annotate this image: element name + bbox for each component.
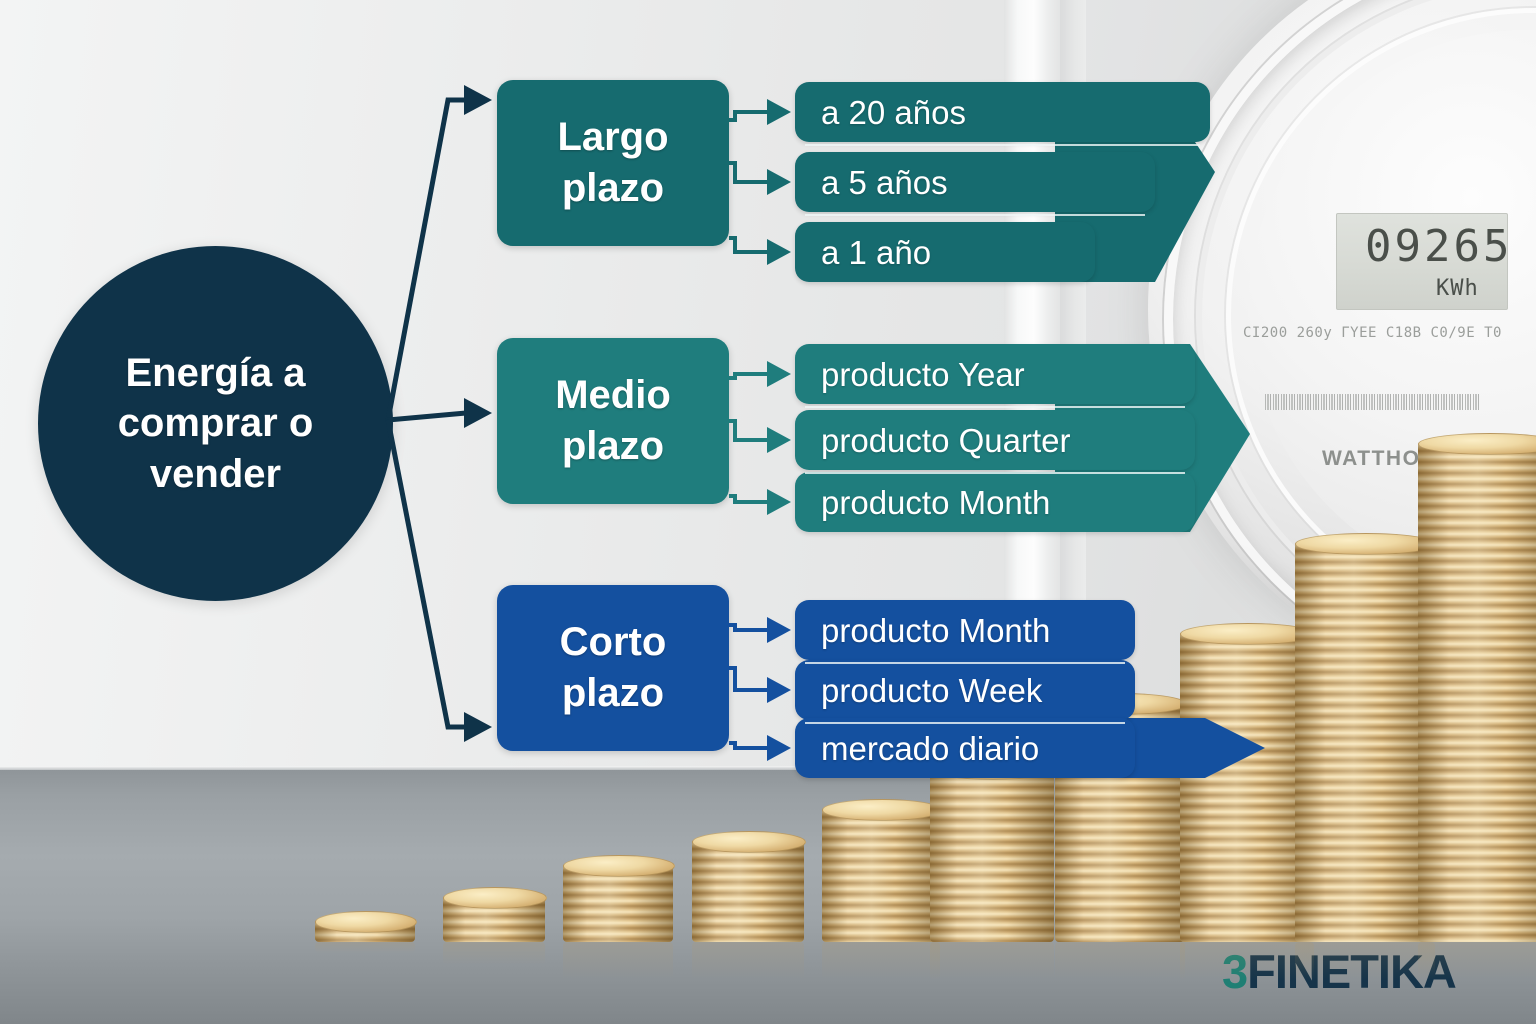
row-corto-plazo-3[interactable]: mercado diario: [795, 718, 1135, 778]
infographic-canvas: 09265 KWh CI200 260y ΓYEE C18B C0/9E T0 …: [0, 0, 1536, 1024]
row-label: mercado diario: [795, 732, 1039, 765]
row-label: producto Month: [795, 614, 1050, 647]
row-corto-plazo-2[interactable]: producto Week: [795, 660, 1135, 720]
branch-corto-plazo: Corto plazoproducto Monthproducto Weekme…: [0, 0, 1536, 1024]
category-to-row-arrows: [0, 0, 1536, 1024]
row-separator: [805, 722, 1125, 724]
row-corto-plazo-1[interactable]: producto Month: [795, 600, 1135, 660]
row-label: producto Week: [795, 674, 1042, 707]
row-separator: [805, 662, 1125, 664]
